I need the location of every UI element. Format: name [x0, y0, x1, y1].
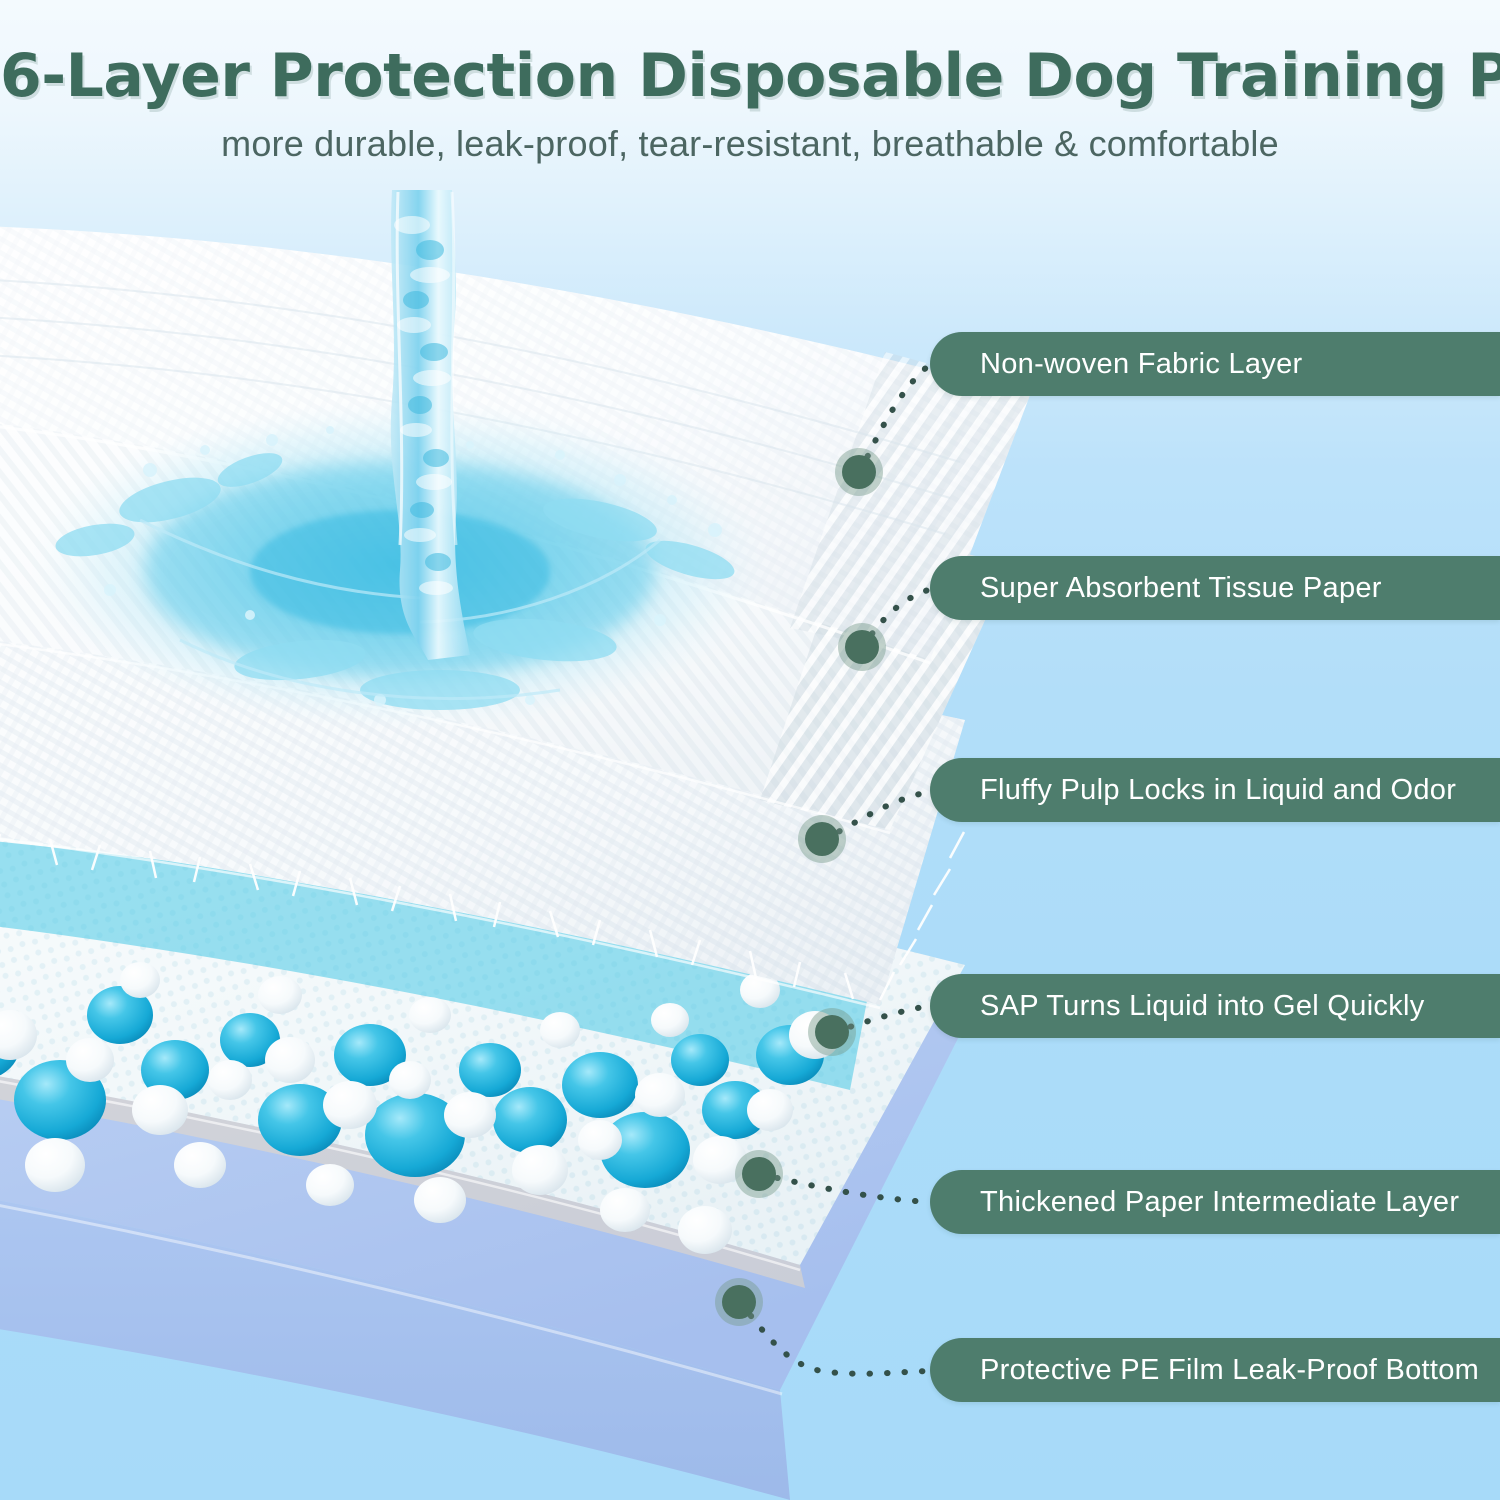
callout-pill-thickened-paper[interactable]: Thickened Paper Intermediate Layer — [930, 1170, 1500, 1234]
callout-label: SAP Turns Liquid into Gel Quickly — [930, 990, 1425, 1023]
header-block: 6-Layer Protection Disposable Dog Traini… — [0, 0, 1500, 185]
callout-pill-super-absorbent-tissue-paper[interactable]: Super Absorbent Tissue Paper — [930, 556, 1500, 620]
callout-label: Protective PE Film Leak-Proof Bottom — [930, 1354, 1479, 1387]
callout-pill-sap-gel[interactable]: SAP Turns Liquid into Gel Quickly — [930, 974, 1500, 1038]
product-layers-illustration — [0, 0, 1500, 1500]
callout-label: Thickened Paper Intermediate Layer — [930, 1186, 1459, 1219]
callout-pill-fluffy-pulp[interactable]: Fluffy Pulp Locks in Liquid and Odor — [930, 758, 1500, 822]
callout-label: Non-woven Fabric Layer — [930, 348, 1303, 381]
callout-marker-1[interactable] — [842, 455, 876, 489]
callout-marker-5[interactable] — [742, 1157, 776, 1191]
infographic-canvas: Non-woven Fabric Layer Super Absorbent T… — [0, 0, 1500, 1500]
callout-label: Super Absorbent Tissue Paper — [930, 572, 1382, 605]
callout-marker-6[interactable] — [722, 1285, 756, 1319]
callout-pill-pe-film[interactable]: Protective PE Film Leak-Proof Bottom — [930, 1338, 1500, 1402]
callout-marker-3[interactable] — [805, 822, 839, 856]
page-subtitle: more durable, leak-proof, tear-resistant… — [0, 107, 1500, 165]
page-title: 6-Layer Protection Disposable Dog Traini… — [0, 0, 1500, 107]
callout-pill-non-woven-fabric-layer[interactable]: Non-woven Fabric Layer — [930, 332, 1500, 396]
callout-marker-2[interactable] — [845, 630, 879, 664]
callout-marker-4[interactable] — [815, 1015, 849, 1049]
callout-label: Fluffy Pulp Locks in Liquid and Odor — [930, 774, 1456, 807]
